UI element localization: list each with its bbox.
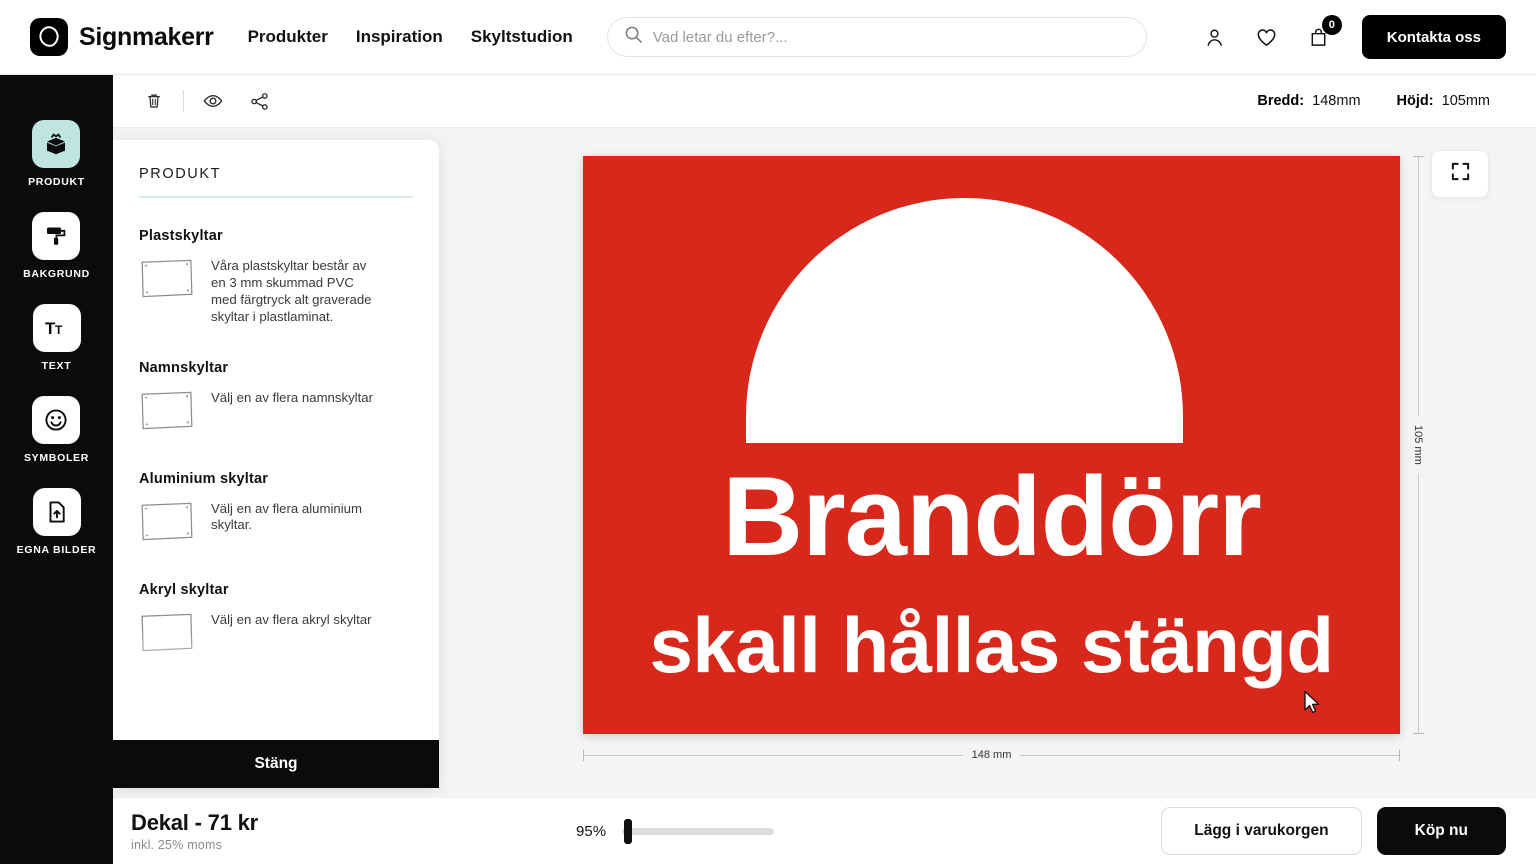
sidebar-item-text[interactable]: T T TEXT — [33, 304, 81, 372]
price-title: Dekal - 71 kr — [131, 810, 258, 836]
search-input[interactable] — [653, 29, 1130, 46]
zoom-value: 95% — [576, 823, 606, 840]
product-list[interactable]: Plastskyltar Våra plastskyltar består av… — [113, 198, 439, 740]
signmakerr-logo-icon — [30, 18, 68, 56]
paint-roller-icon — [32, 212, 80, 260]
sidebar-item-bakgrund[interactable]: BAKGRUND — [23, 212, 90, 280]
product-description: Välj en av flera akryl skyltar — [211, 612, 372, 629]
sidebar-item-produkt[interactable]: PRODUKT — [28, 120, 85, 188]
product-name: Plastskyltar — [139, 228, 413, 244]
product-name: Aluminium skyltar — [139, 471, 413, 487]
sign-text-line-1[interactable]: Branddörr — [583, 461, 1400, 573]
ruler-line-bottom — [1418, 474, 1419, 733]
main-nav: Produkter Inspiration Skyltstudion — [248, 27, 573, 47]
zoom-control: 95% — [576, 823, 774, 840]
contact-button[interactable]: Kontakta oss — [1362, 15, 1506, 59]
search-icon — [624, 25, 643, 49]
width-label: Bredd: — [1257, 93, 1304, 109]
sign-plate-thumb-icon — [139, 258, 195, 305]
width-readout: Bredd: 148mm — [1257, 93, 1360, 109]
product-panel: PRODUKT Plastskyltar Vår — [113, 140, 439, 788]
canvas-dimensions: Bredd: 148mm Höjd: 105mm — [1257, 93, 1490, 109]
file-upload-icon — [33, 488, 81, 536]
cart-count-badge: 0 — [1322, 15, 1342, 35]
toolbar-divider — [183, 90, 184, 112]
height-readout: Höjd: 105mm — [1397, 93, 1490, 109]
svg-text:T: T — [55, 323, 63, 337]
product-item-plastskyltar[interactable]: Plastskyltar Våra plastskyltar består av… — [139, 228, 413, 326]
product-name: Namnskyltar — [139, 360, 413, 376]
product-description: Våra plastskyltar består av en 3 mm skum… — [211, 258, 373, 326]
zoom-slider[interactable] — [622, 828, 774, 835]
brand-name: Signmakerr — [79, 23, 214, 52]
sidebar-label-produkt: PRODUKT — [28, 176, 85, 188]
product-description: Välj en av flera aluminium skyltar. — [211, 501, 373, 535]
sign-plate-thumb-icon — [139, 390, 195, 437]
editor-bottom-bar: Dekal - 71 kr inkl. 25% moms 95% Lägg i … — [113, 797, 1536, 864]
nav-item-produkter[interactable]: Produkter — [248, 27, 328, 47]
ruler-line-left — [584, 755, 963, 756]
nav-item-skyltstudion[interactable]: Skyltstudion — [471, 27, 573, 47]
heart-icon[interactable] — [1254, 24, 1280, 50]
sign-text-line-2[interactable]: skall hållas stängd — [583, 606, 1400, 684]
product-item-namnskyltar[interactable]: Namnskyltar Välj en av flera namnskyltar — [139, 360, 413, 437]
ruler-line-top — [1418, 157, 1419, 416]
sidebar-item-egna-bilder[interactable]: EGNA BILDER — [17, 488, 97, 556]
product-name: Akryl skyltar — [139, 582, 413, 598]
user-icon[interactable] — [1202, 24, 1228, 50]
product-item-aluminium-skyltar[interactable]: Aluminium skyltar Välj en av flera alumi… — [139, 471, 413, 548]
height-label: Höjd: — [1397, 93, 1434, 109]
height-value: 105mm — [1442, 93, 1490, 109]
price-block: Dekal - 71 kr inkl. 25% moms — [131, 810, 258, 852]
smiley-face-icon — [32, 396, 80, 444]
width-ruler: 148 mm — [583, 748, 1400, 762]
sidebar-item-symboler[interactable]: SYMBOLER — [24, 396, 89, 464]
eye-icon[interactable] — [196, 84, 230, 118]
sign-plate-thumb-icon — [139, 612, 195, 659]
ruler-cap-bottom — [1413, 733, 1424, 734]
product-panel-header: PRODUKT — [113, 140, 439, 198]
editor-workspace: PRODUKT Plastskyltar Vår — [113, 128, 1536, 797]
share-nodes-icon[interactable] — [242, 84, 276, 118]
width-value: 148mm — [1312, 93, 1360, 109]
site-header: Signmakerr Produkter Inspiration Skyltst… — [0, 0, 1536, 75]
sidebar-label-symboler: SYMBOLER — [24, 452, 89, 464]
product-description: Välj en av flera namnskyltar — [211, 390, 373, 407]
ruler-line-right — [1020, 755, 1399, 756]
tool-rail: PRODUKT BAKGRUND T T TEXT — [0, 75, 113, 864]
sidebar-label-bakgrund: BAKGRUND — [23, 268, 90, 280]
open-box-icon — [32, 120, 80, 168]
close-panel-button[interactable]: Stäng — [113, 740, 439, 788]
header-actions: 0 Kontakta oss — [1202, 15, 1506, 59]
search-bar[interactable] — [607, 17, 1147, 57]
trash-icon[interactable] — [137, 84, 171, 118]
sidebar-label-text: TEXT — [42, 360, 72, 372]
ruler-cap-right — [1399, 750, 1400, 761]
add-to-cart-button[interactable]: Lägg i varukorgen — [1161, 807, 1361, 855]
sign-dome-shape — [746, 198, 1183, 443]
fullscreen-button[interactable] — [1431, 150, 1489, 198]
expand-fullscreen-icon — [1450, 161, 1471, 187]
sign-canvas[interactable]: Branddörr skall hållas stängd — [583, 156, 1400, 734]
shopping-bag-icon[interactable]: 0 — [1306, 24, 1332, 50]
text-tt-icon: T T — [33, 304, 81, 352]
editor-toolbar: Bredd: 148mm Höjd: 105mm — [113, 75, 1536, 128]
brand-logo[interactable]: Signmakerr — [30, 18, 214, 56]
buy-now-button[interactable]: Köp nu — [1377, 807, 1506, 855]
zoom-slider-handle[interactable] — [624, 819, 632, 844]
height-ruler: 105 mm — [1411, 156, 1425, 734]
nav-item-inspiration[interactable]: Inspiration — [356, 27, 443, 47]
product-item-akryl-skyltar[interactable]: Akryl skyltar Välj en av flera akryl sky… — [139, 582, 413, 659]
height-ruler-label: 105 mm — [1412, 416, 1424, 474]
sign-plate-thumb-icon — [139, 501, 195, 548]
bottom-actions: Lägg i varukorgen Köp nu — [1161, 807, 1506, 855]
sidebar-label-egna-bilder: EGNA BILDER — [17, 544, 97, 556]
panel-title: PRODUKT — [139, 166, 413, 182]
width-ruler-label: 148 mm — [963, 749, 1021, 761]
price-subtitle: inkl. 25% moms — [131, 838, 258, 852]
